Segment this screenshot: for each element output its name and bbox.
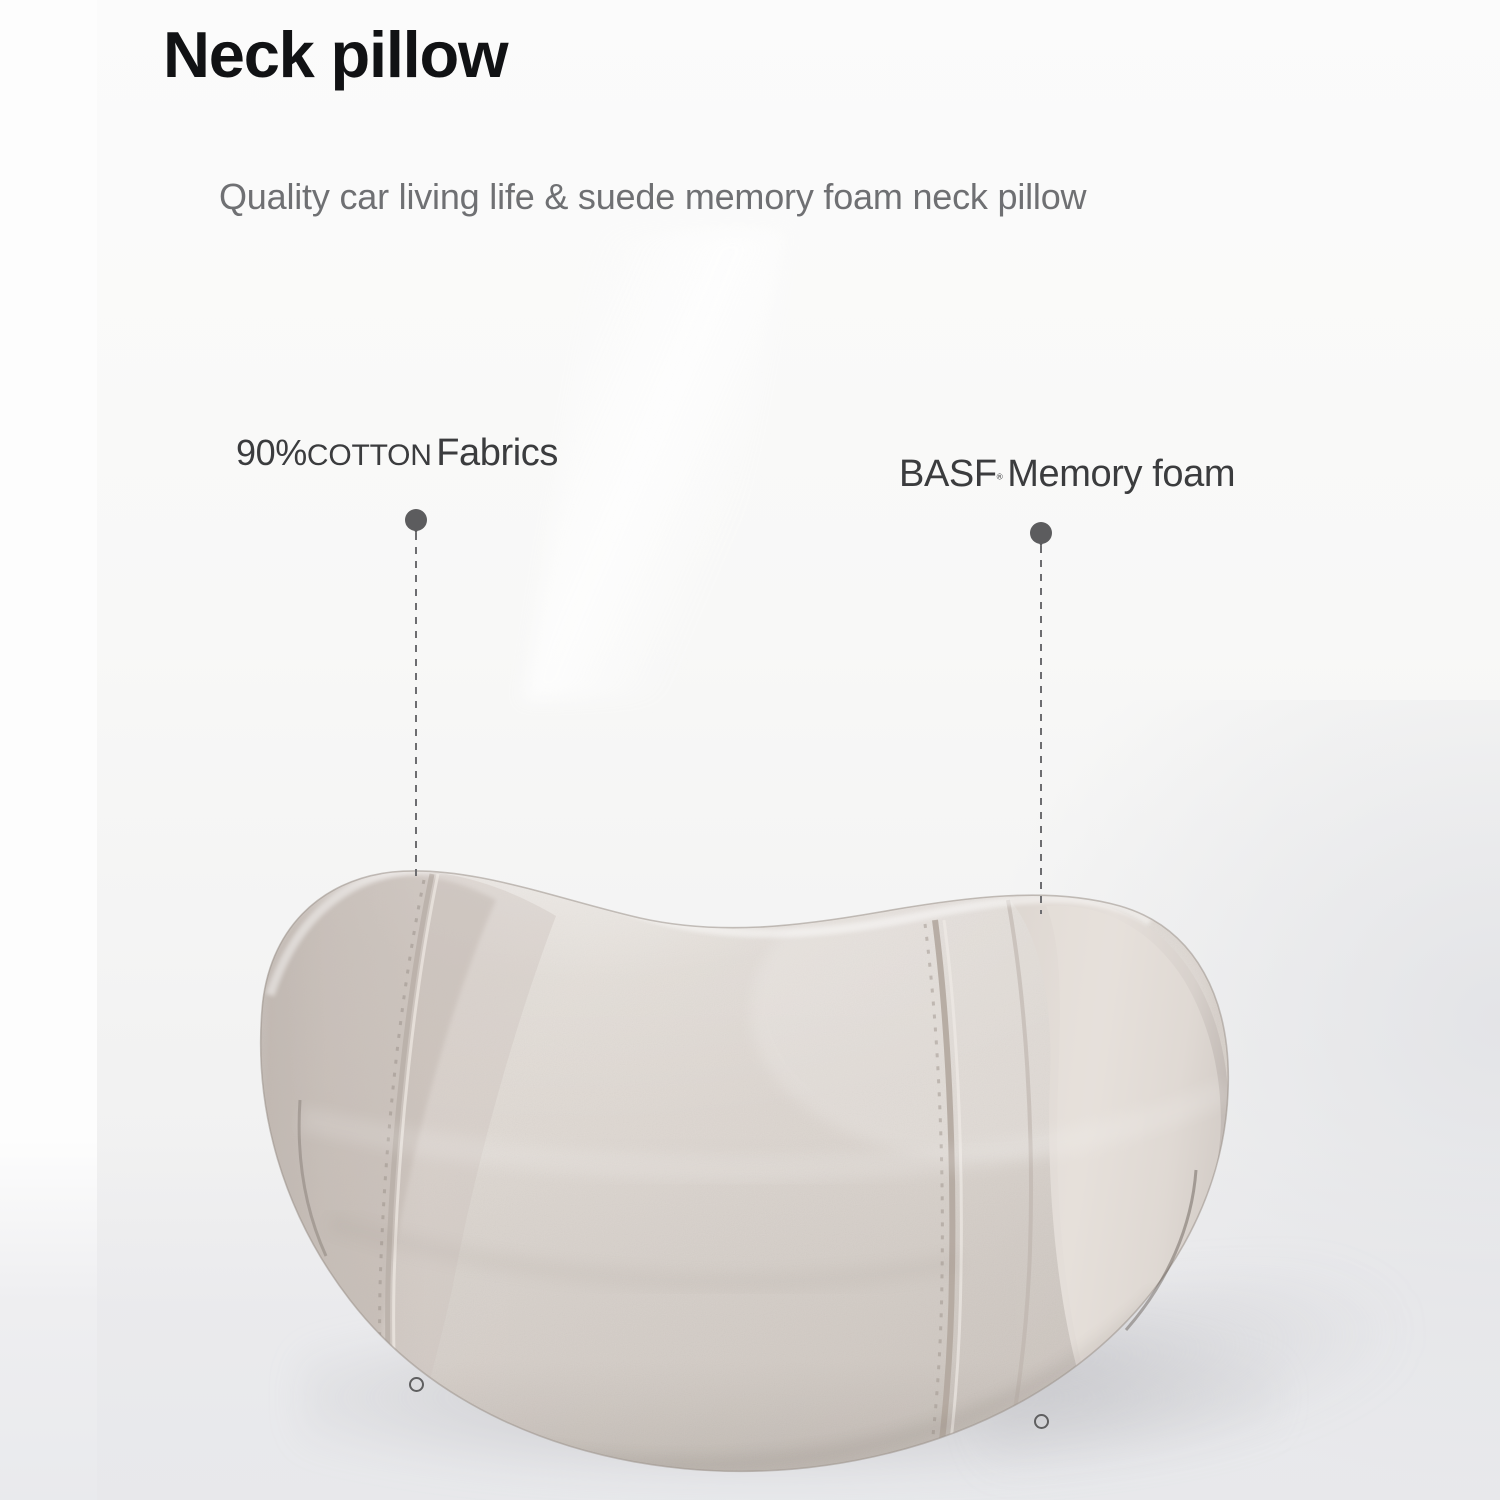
registered-trademark-icon: ® xyxy=(997,472,1003,482)
page-title: Neck pillow xyxy=(163,19,507,92)
callout-basf-brand: BASF xyxy=(899,453,997,495)
callout-anchor-ring-icon xyxy=(1034,1414,1049,1429)
callout-marker-dot-icon xyxy=(1030,522,1052,544)
product-infographic-page: Neck pillow Quality car living life & su… xyxy=(0,0,1500,1500)
page-subtitle: Quality car living life & suede memory f… xyxy=(219,176,1086,218)
callout-dashed-line xyxy=(415,533,417,877)
callout-cotton-suffix: Fabrics xyxy=(436,432,558,474)
callout-marker-dot-icon xyxy=(405,509,427,531)
background-right-vignette xyxy=(980,700,1500,1500)
callout-dashed-line xyxy=(1040,546,1042,914)
callout-label-basf: BASF® Memory foam xyxy=(899,453,1235,496)
callout-basf-suffix: Memory foam xyxy=(1007,453,1235,495)
callout-label-cotton: 90%COTTON Fabrics xyxy=(236,432,558,475)
callout-cotton-material: COTTON xyxy=(307,439,432,472)
callout-anchor-ring-icon xyxy=(409,1377,424,1392)
callout-cotton-percent: 90% xyxy=(236,432,307,473)
